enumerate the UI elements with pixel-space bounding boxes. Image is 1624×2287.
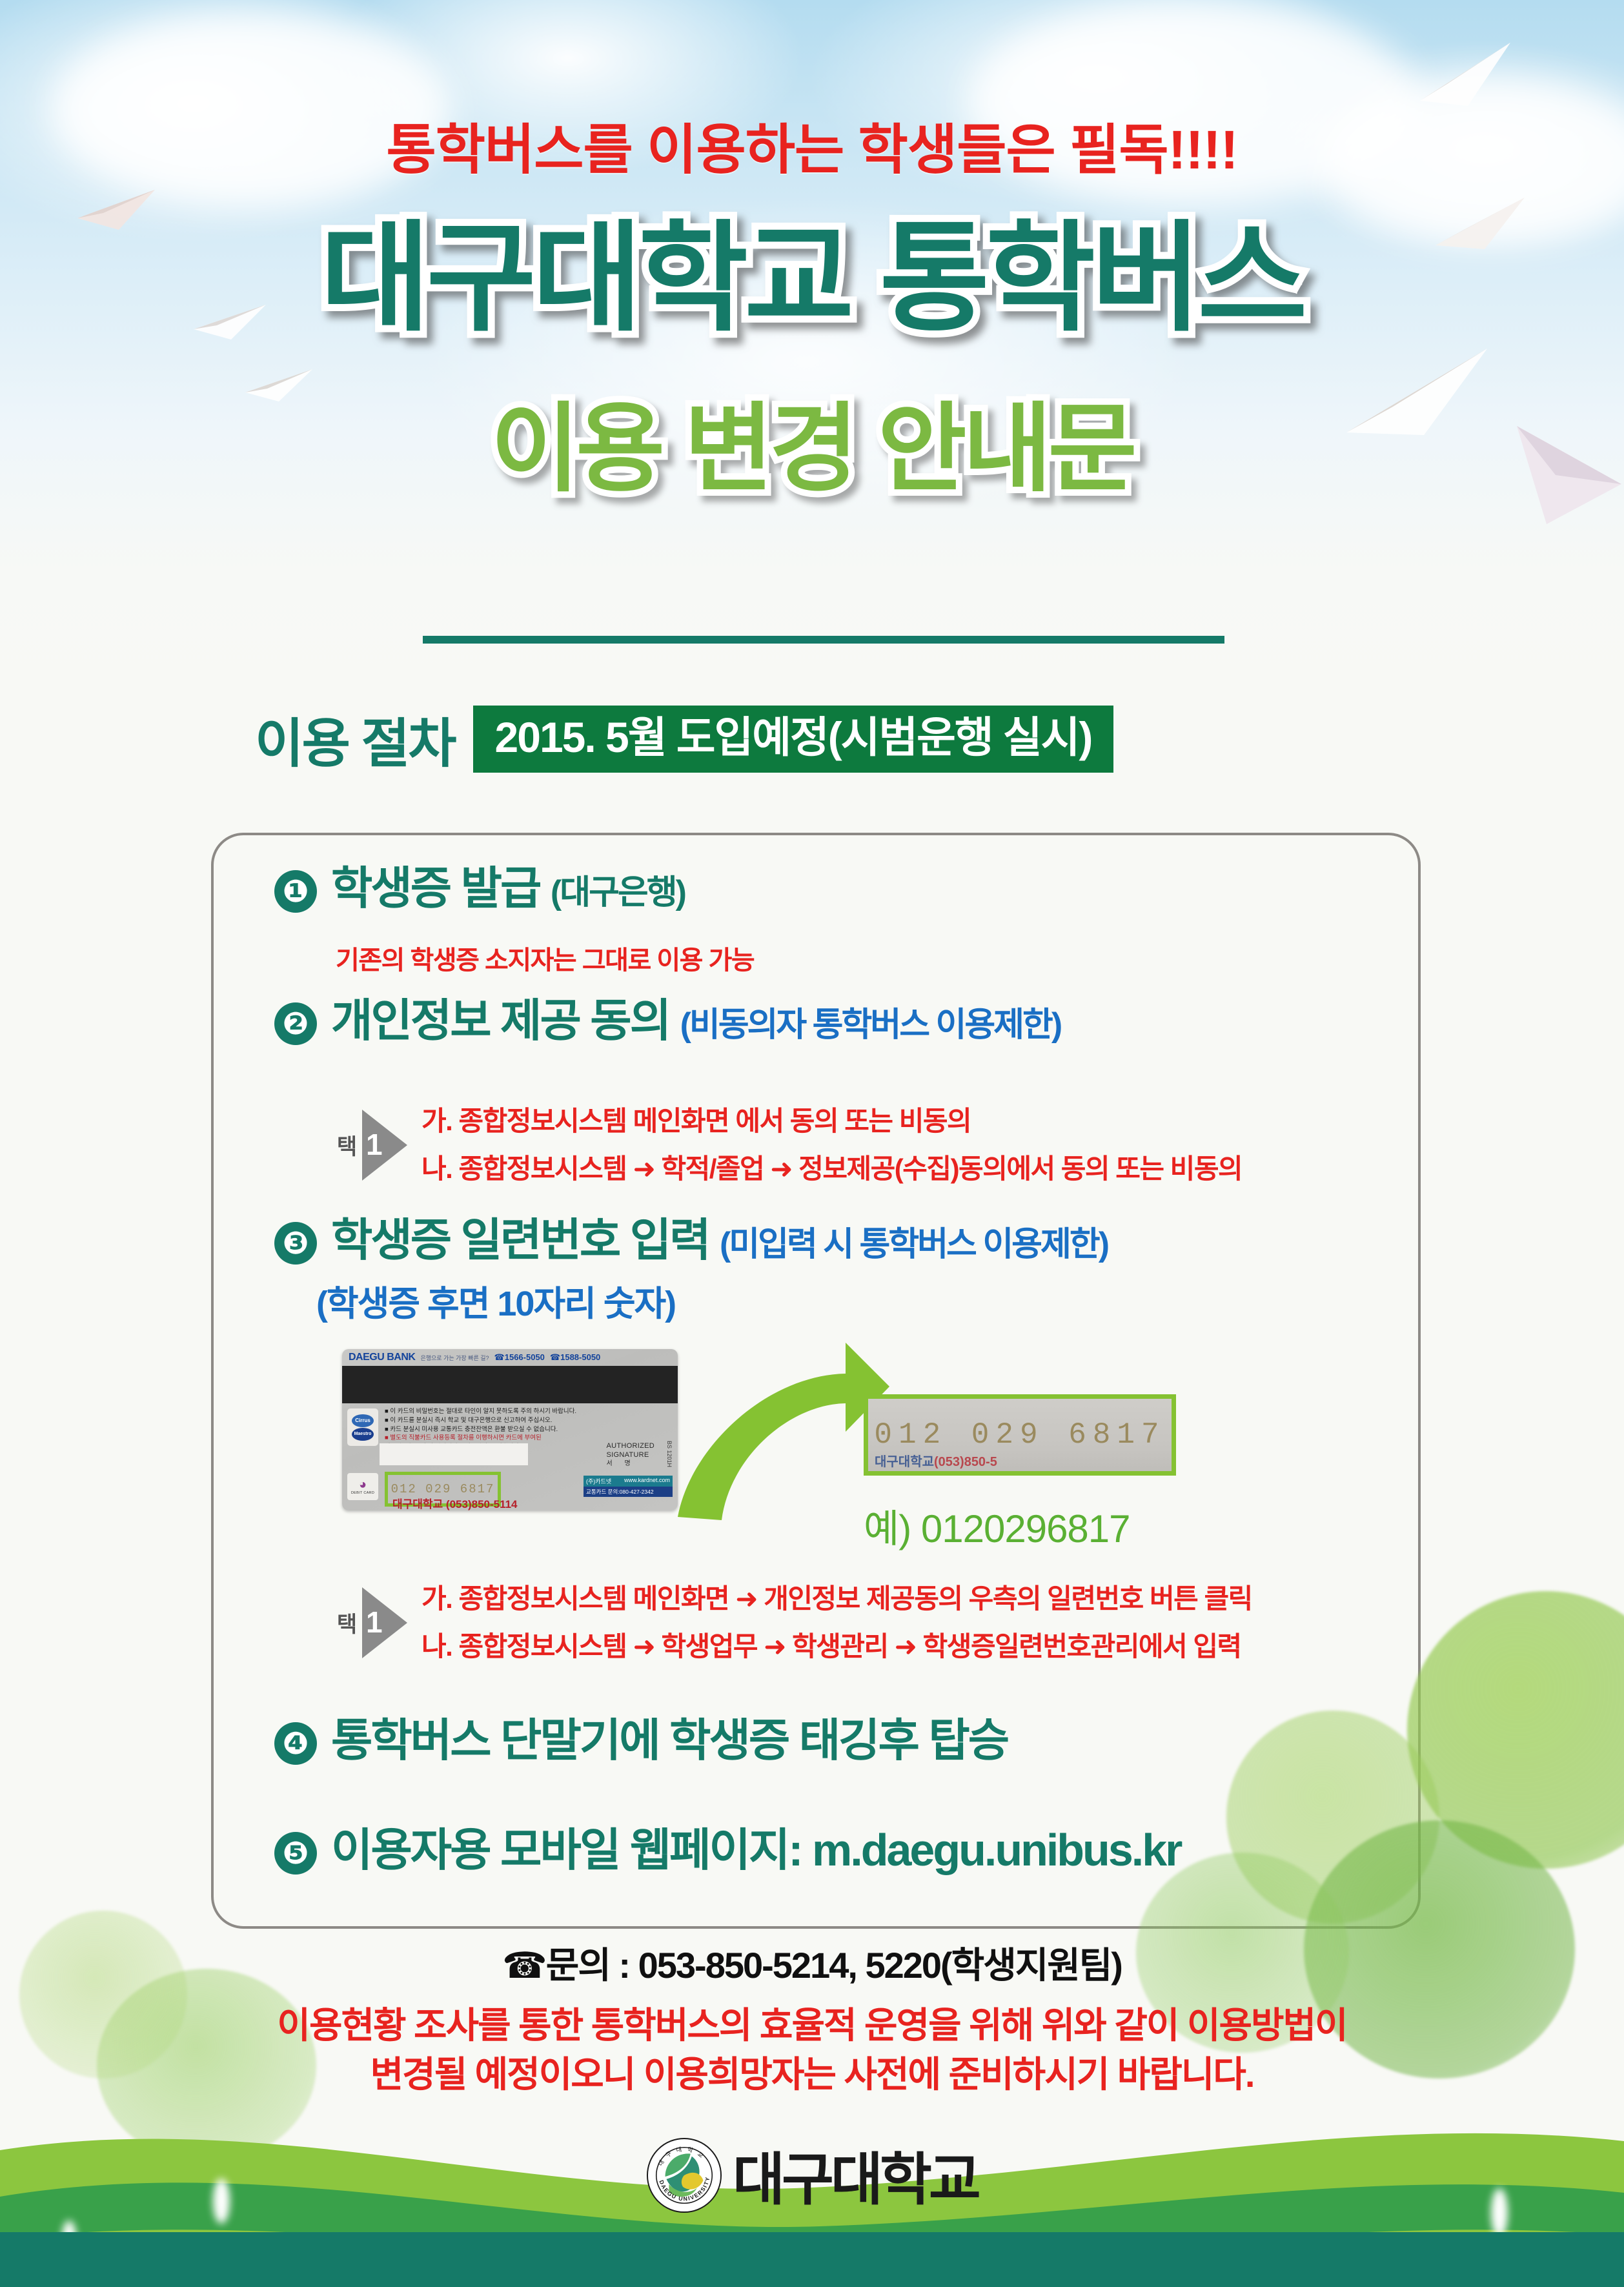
warning-line-1: 이용현황 조사를 통한 통학버스의 효율적 운영을 위해 위와 같이 이용방법이 [0,2001,1624,2050]
card-note: ■ 카드 분실시 미사용 교통카드 충전잔액은 환불 받으실 수 없습니다. [385,1425,673,1434]
student-card-image: DAEGU BANK 은행으로 가는 가장 빠른 길? ☎1566-5050 ☎… [342,1349,678,1510]
paper-plane-icon [1414,39,1517,110]
step-title-text: 학생증 일련번호 입력 [331,1215,709,1265]
serial-zoom-box: 012 029 6817 대구대학교(053)850-5 [864,1394,1176,1476]
choice-line: 가. 종합정보시스템 메인화면 ➜ 개인정보 제공동의 우측의 일련번호 버튼 … [421,1575,1252,1623]
card-note: ■ 별도의 직불카드 사용등록 절차를 이행하시면 카드에 부여된 [385,1434,673,1443]
kardnet-name: (주)카드넷 [586,1477,611,1485]
step-3-choice-group: 택 1 가. 종합정보시스템 메인화면 ➜ 개인정보 제공동의 우측의 일련번호… [329,1575,1252,1670]
step-paren: (비동의자 통학버스 이용제한) [680,1006,1061,1044]
choice-line: 나. 종합정보시스템 ➜ 학생업무 ➜ 학생관리 ➜ 학생증일련번호관리에서 입… [421,1623,1252,1671]
card-bank-tagline: 은행으로 가는 가장 빠른 길? [420,1354,489,1362]
title-line-2: 이용 변경 안내문 [0,400,1624,497]
step-3-note: (학생증 후면 10자리 숫자) [316,1275,675,1326]
card-serial-number: 012 029 6817 [391,1482,495,1496]
card-bank-name: DAEGU BANK [349,1352,415,1363]
pick-number: 1 [366,1127,383,1162]
poster-canvas: 통학버스를 이용하는 학생들은 필독!!!! 대구대학교 통학버스 이용 변경 … [0,0,1624,2287]
step-number: ❸ [274,1222,317,1265]
step-paren: (대구은행) [551,874,685,911]
step-title: 학생증 일련번호 입력 (미입력 시 통학버스 이용제한) [331,1217,1108,1265]
pick-triangle-icon: 1 [362,1587,407,1658]
card-note: ■ 이 카드의 비밀번호는 절대로 타인이 알지 못하도록 주의 하시기 바랍니… [385,1407,673,1416]
debit-card-logo: ◕ DEBIT CARD [347,1473,378,1500]
step-1: ❶ 학생증 발급 (대구은행) [274,865,685,913]
maestro-badge: Maestro [352,1428,374,1441]
pick-lines: 가. 종합정보시스템 메인화면 ➜ 개인정보 제공동의 우측의 일련번호 버튼 … [421,1575,1252,1670]
university-logo-text: 대구대학교 [733,2134,978,2216]
debit-glyph-icon: ◕ [359,1478,367,1491]
card-magnetic-stripe [342,1366,678,1403]
pick-triangle-icon: 1 [362,1110,407,1181]
step-paren: (미입력 시 통학버스 이용제한) [720,1226,1108,1263]
step-title: 학생증 발급 (대구은행) [331,865,685,913]
card-signature-box [380,1443,528,1465]
cirrus-maestro-logo: Cirrus Maestro [347,1408,378,1446]
choice-line: 나. 종합정보시스템 ➜ 학적/졸업 ➜ 정보제공(수집)동의에서 동의 또는 … [421,1145,1242,1193]
section-header: 이용 절차 2015. 5월 도입예정(시범운행 실시) [255,700,1113,777]
card-phone-2: ☎1588-5050 [550,1352,600,1363]
contact-line: ☎문의 : 053-850-5214, 5220(학생지원팀) [0,1936,1624,1989]
step-title: 개인정보 제공 동의 (비동의자 통학버스 이용제한) [331,997,1061,1045]
step-title: 통학버스 단말기에 학생증 태깅후 탑승 [331,1717,1008,1765]
step-number: ❷ [274,1002,317,1045]
green-arrow-icon [652,1336,891,1523]
step-number: ❹ [274,1722,317,1765]
headline-text: 통학버스를 이용하는 학생들은 필독!!!! [0,107,1624,185]
section-label: 이용 절차 [255,700,455,777]
step-2: ❷ 개인정보 제공 동의 (비동의자 통학버스 이용제한) [274,997,1061,1045]
step-title-text: 개인정보 제공 동의 [331,995,669,1046]
footer-bar [0,2232,1624,2287]
step-1-note: 기존의 학생증 소지자는 그대로 이용 가능 [336,939,754,977]
step-number: ❺ [274,1832,317,1875]
step-4: ❹ 통학버스 단말기에 학생증 태깅후 탑승 [274,1717,1008,1765]
card-signature-kr: 서 명 [607,1460,655,1469]
step-number: ❶ [274,870,317,913]
pick-label: 택 [329,1135,361,1155]
title-line-1: 대구대학교 통학버스 [0,219,1624,339]
card-note: ■ 이 카드를 분실시 즉시 학교 및 대구은행으로 신고하여 주십시오. [385,1416,673,1425]
step-3: ❸ 학생증 일련번호 입력 (미입력 시 통학버스 이용제한) [274,1217,1108,1265]
pick-label: 택 [329,1612,361,1633]
section-banner: 2015. 5월 도입예정(시범운행 실시) [473,706,1114,773]
card-university-line: 대구대학교 (053)850-5114 [392,1495,518,1510]
serial-zoom-callout: 012 029 6817 대구대학교(053)850-5 예) 01202968… [864,1394,1186,1554]
cirrus-badge: Cirrus [352,1414,374,1427]
card-authorized-signature: AUTHORIZEDSIGNATURE 서 명 [607,1442,655,1468]
card-phone-1: ☎1566-5050 [494,1352,545,1363]
pick-number: 1 [366,1605,383,1640]
university-seal-icon: 대 구 대 학 교 DAEGU UNIVERSITY 1956 [646,2137,722,2213]
pick-lines: 가. 종합정보시스템 메인화면 에서 동의 또는 비동의 나. 종합정보시스템 … [421,1097,1242,1192]
step-5: ❺ 이용자용 모바일 웹페이지: m.daegu.unibus.kr [274,1827,1181,1875]
choice-line: 가. 종합정보시스템 메인화면 에서 동의 또는 비동의 [421,1097,1242,1145]
serial-example-text: 예) 0120296817 [864,1498,1186,1554]
paper-plane-icon [245,368,316,404]
university-logo: 대 구 대 학 교 DAEGU UNIVERSITY 1956 대구대학교 [0,2134,1624,2216]
step-title: 이용자용 모바일 웹페이지: m.daegu.unibus.kr [331,1827,1181,1875]
card-body: Cirrus Maestro ■ 이 카드의 비밀번호는 절대로 타인이 알지 … [342,1403,678,1472]
step-2-choice-group: 택 1 가. 종합정보시스템 메인화면 에서 동의 또는 비동의 나. 종합정보… [329,1097,1242,1192]
serial-zoom-under-red: (053)850-5 [934,1455,997,1469]
title-divider [423,636,1224,644]
card-bank-header: DAEGU BANK 은행으로 가는 가장 빠른 길? ☎1566-5050 ☎… [342,1349,678,1366]
step-title-text: 학생증 발급 [331,863,540,913]
debit-label: DEBIT CARD [351,1491,374,1495]
serial-zoom-under-blue: 대구대학교 [875,1455,934,1469]
serial-zoom-under-text: 대구대학교(053)850-5 [875,1451,997,1470]
serial-zoom-number: 012 029 6817 [874,1418,1165,1452]
card-bottom: ◕ DEBIT CARD 012 029 6817 대구대학교 (053)850… [342,1472,678,1510]
